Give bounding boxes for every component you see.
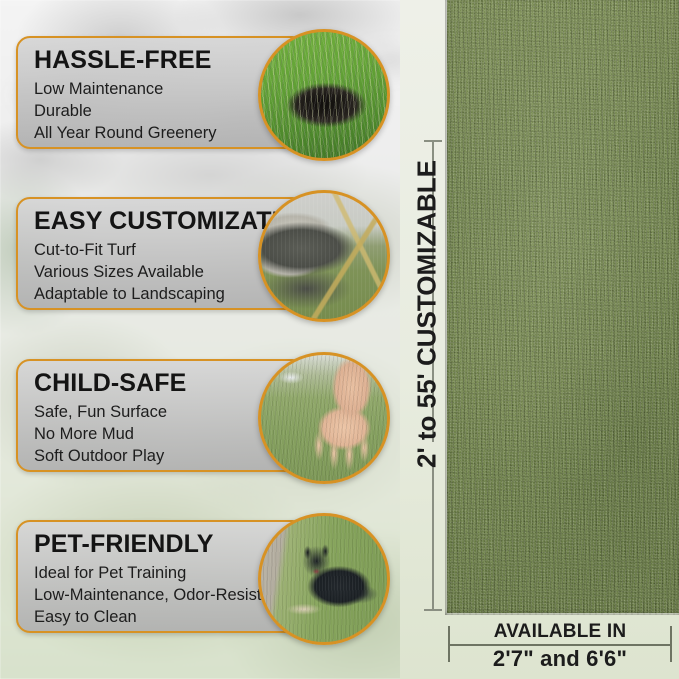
- vertical-dimension-label: 2' to 55' CUSTOMIZABLE: [407, 164, 447, 464]
- feature-title: EASY CUSTOMIZATION: [34, 208, 290, 235]
- feature-thumbnail-easy-customization: [258, 190, 390, 322]
- vertical-dimension-label-text: 2' to 55' CUSTOMIZABLE: [412, 160, 443, 468]
- feature-bullet: Low Maintenance: [34, 79, 290, 101]
- feature-bullet: No More Mud: [34, 424, 290, 446]
- feature-bullet-list: Safe, Fun Surface No More Mud Soft Outdo…: [34, 402, 290, 467]
- available-in-label: AVAILABLE IN: [448, 622, 672, 641]
- feature-title: PET-FRIENDLY: [34, 531, 290, 558]
- feature-bullet: Soft Outdoor Play: [34, 446, 290, 468]
- feature-bullet: Ideal for Pet Training: [34, 563, 290, 585]
- feature-bullet-list: Ideal for Pet Training Low-Maintenance, …: [34, 563, 290, 628]
- feature-bullet: Adaptable to Landscaping: [34, 284, 290, 306]
- vertical-dimension-cap-bottom: [424, 609, 442, 611]
- artificial-grass-turf-roll-image: [447, 0, 679, 613]
- feature-bullet: Various Sizes Available: [34, 262, 290, 284]
- vertical-dimension-line-lower: [432, 455, 434, 610]
- feature-bullet: Cut-to-Fit Turf: [34, 240, 290, 262]
- feature-thumbnail-child-safe: [258, 352, 390, 484]
- feature-thumbnail-hassle-free: [258, 29, 390, 161]
- feature-bullet-list: Cut-to-Fit Turf Various Sizes Available …: [34, 240, 290, 305]
- available-sizes-label: 2'7" and 6'6": [448, 648, 672, 670]
- feature-title: HASSLE-FREE: [34, 47, 290, 74]
- feature-bullet: Low-Maintenance, Odor-Resistant: [34, 585, 290, 607]
- feature-bullet: Safe, Fun Surface: [34, 402, 290, 424]
- feature-bullet: All Year Round Greenery: [34, 123, 290, 145]
- feature-title: CHILD-SAFE: [34, 370, 290, 397]
- feature-bullet: Easy to Clean: [34, 607, 290, 629]
- feature-bullet-list: Low Maintenance Durable All Year Round G…: [34, 79, 290, 144]
- feature-thumbnail-pet-friendly: [258, 513, 390, 645]
- product-infographic: 2' to 55' CUSTOMIZABLE HASSLE-FREE Low M…: [0, 0, 679, 679]
- feature-bullet: Durable: [34, 101, 290, 123]
